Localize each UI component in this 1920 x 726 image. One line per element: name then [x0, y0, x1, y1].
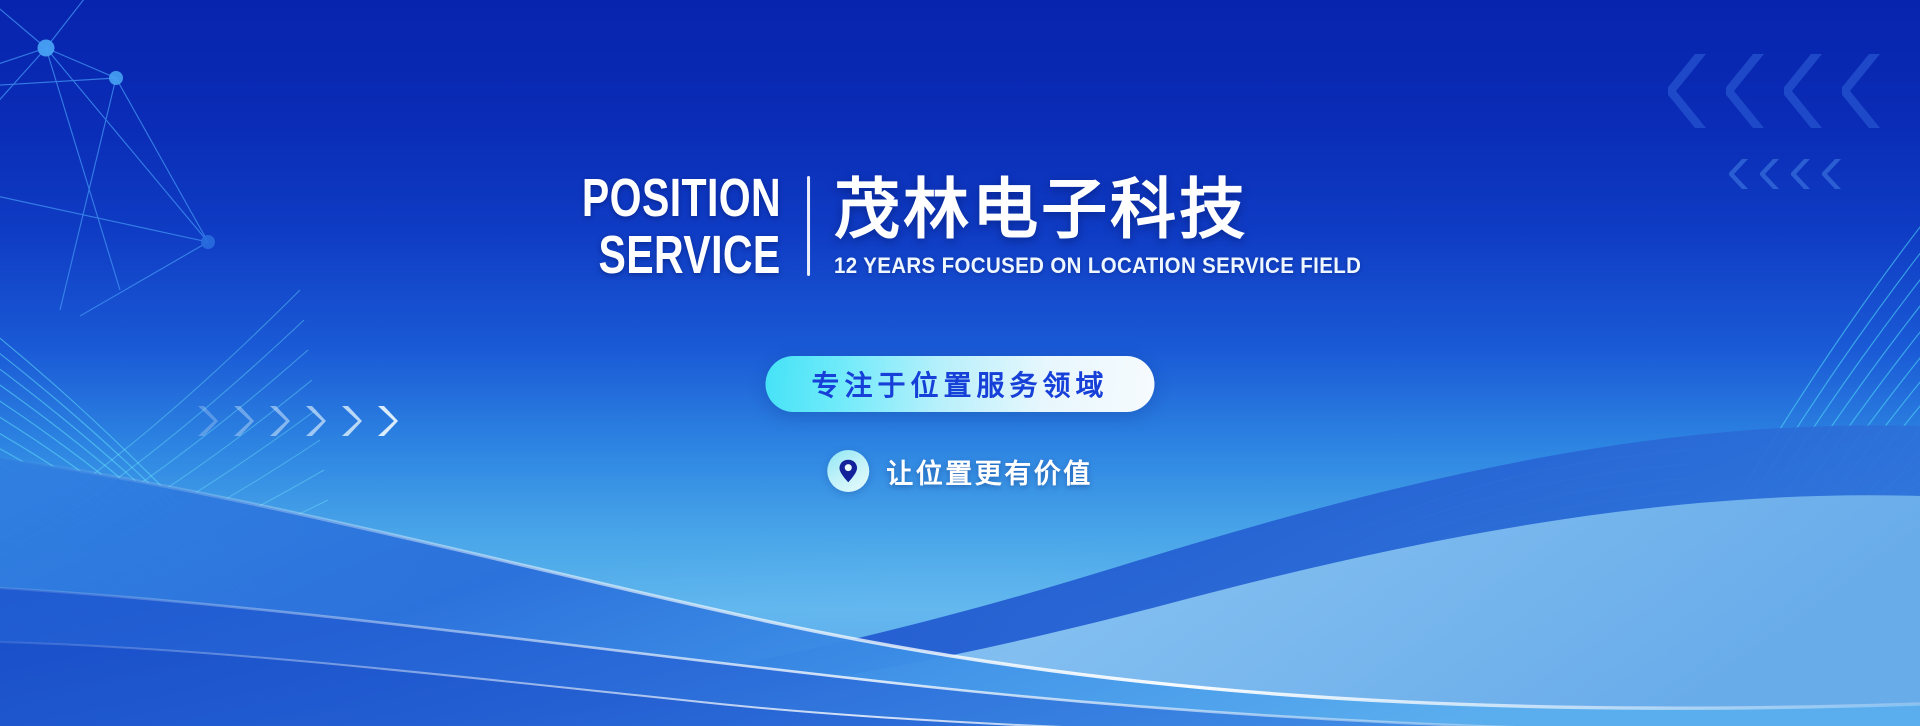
- english-title-line2: SERVICE: [599, 229, 781, 282]
- english-title-block: POSITION SERVICE: [519, 172, 807, 282]
- headline-block: POSITION SERVICE 茂林电子科技 12 YEARS FOCUSED…: [519, 172, 1401, 282]
- focus-pill-badge[interactable]: 专注于位置服务领域: [765, 356, 1154, 412]
- english-subtitle: 12 YEARS FOCUSED ON LOCATION SERVICE FIE…: [834, 253, 1361, 279]
- focus-pill-label: 专注于位置服务领域: [811, 364, 1108, 404]
- banner-content: POSITION SERVICE 茂林电子科技 12 YEARS FOCUSED…: [0, 0, 1920, 726]
- map-pin-icon: [838, 459, 858, 483]
- promo-banner: POSITION SERVICE 茂林电子科技 12 YEARS FOCUSED…: [0, 0, 1920, 726]
- company-name: 茂林电子科技: [834, 175, 1401, 244]
- tagline-block: 让位置更有价值: [827, 450, 1093, 492]
- english-title-line1: POSITION: [582, 172, 781, 225]
- map-pin-badge: [827, 450, 869, 492]
- tagline-label: 让位置更有价值: [886, 452, 1093, 491]
- chinese-title-block: 茂林电子科技 12 YEARS FOCUSED ON LOCATION SERV…: [810, 172, 1401, 282]
